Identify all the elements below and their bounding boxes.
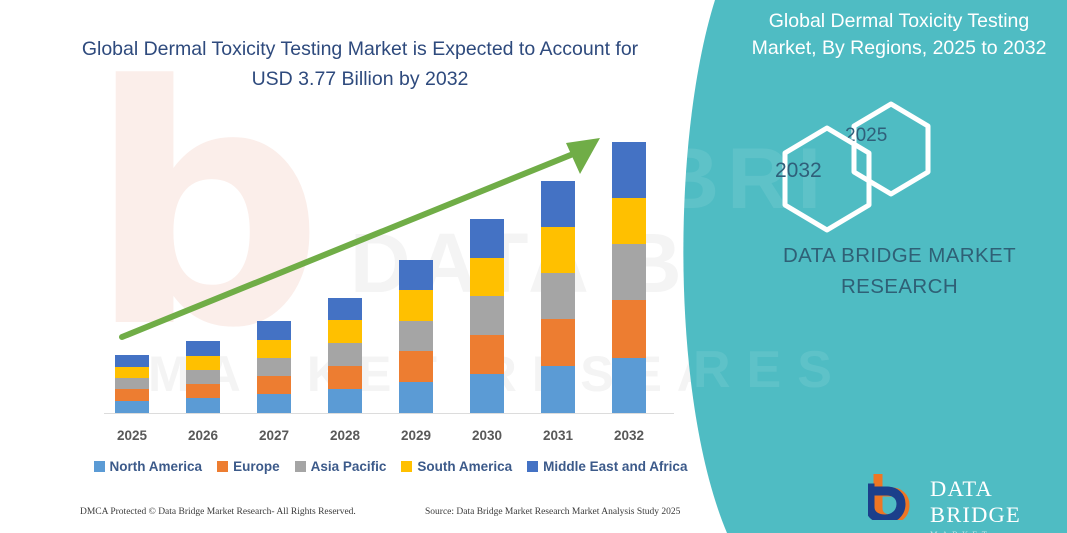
bar-segment-europe xyxy=(612,300,646,358)
legend-swatch-icon xyxy=(94,461,105,472)
x-axis-label-2029: 2029 xyxy=(386,428,446,443)
bar-segment-europe xyxy=(328,366,362,389)
bar-segment-north-america xyxy=(612,358,646,413)
legend-item-middle-east-and-africa[interactable]: Middle East and Africa xyxy=(527,459,687,474)
bar-segment-north-america xyxy=(541,366,575,413)
panel-brand-name: DATA BRIDGE MARKET RESEARCH xyxy=(737,240,1062,302)
legend-item-europe[interactable]: Europe xyxy=(217,459,280,474)
legend-swatch-icon xyxy=(295,461,306,472)
infographic-canvas: b DATA BRIDGE MARKET RESEARCH Global Der… xyxy=(0,0,1067,533)
bar-segment-south-america xyxy=(541,227,575,273)
legend-item-north-america[interactable]: North America xyxy=(94,459,203,474)
legend-label: South America xyxy=(417,459,512,474)
bar-segment-europe xyxy=(257,376,291,394)
bar-segment-europe xyxy=(399,351,433,382)
bar-segment-europe xyxy=(186,384,220,398)
stacked-bar-chart: 20252026202720282029203020312032 xyxy=(0,0,700,470)
bar-segment-north-america xyxy=(470,374,504,413)
legend-label: Europe xyxy=(233,459,280,474)
legend-swatch-icon xyxy=(527,461,538,472)
legend-swatch-icon xyxy=(401,461,412,472)
bar-2027 xyxy=(257,321,291,413)
panel-brand-line1: DATA BRIDGE MARKET xyxy=(737,240,1062,271)
bar-segment-middle-east-and-africa xyxy=(612,142,646,198)
bar-segment-north-america xyxy=(399,382,433,413)
chart-legend: North AmericaEuropeAsia PacificSouth Ame… xyxy=(98,459,683,474)
legend-item-south-america[interactable]: South America xyxy=(401,459,512,474)
hexagon-group: 2025 2032 xyxy=(767,95,1067,220)
panel-title: Global Dermal Toxicity Testing Market, B… xyxy=(739,8,1059,62)
x-axis-label-2031: 2031 xyxy=(528,428,588,443)
bar-2032 xyxy=(612,142,646,413)
bar-segment-asia-pacific xyxy=(257,358,291,376)
panel-brand-line2: RESEARCH xyxy=(737,271,1062,302)
bar-2025 xyxy=(115,355,149,413)
bar-segment-asia-pacific xyxy=(186,370,220,384)
company-logo: DATA BRIDGE MARKET RESEARCH xyxy=(868,472,1043,522)
x-axis-label-2025: 2025 xyxy=(102,428,162,443)
footer: DMCA Protected © Data Bridge Market Rese… xyxy=(80,507,680,523)
bar-segment-north-america xyxy=(186,398,220,413)
bar-segment-south-america xyxy=(186,356,220,370)
x-axis-label-2028: 2028 xyxy=(315,428,375,443)
bar-segment-asia-pacific xyxy=(612,244,646,300)
logo-name: DATA BRIDGE xyxy=(930,476,1043,528)
bar-segment-north-america xyxy=(257,394,291,413)
logo-bridge-mark xyxy=(868,474,926,520)
bar-2026 xyxy=(186,341,220,413)
bar-segment-south-america xyxy=(612,198,646,244)
bar-segment-middle-east-and-africa xyxy=(541,181,575,227)
bar-segment-asia-pacific xyxy=(541,273,575,319)
bar-segment-asia-pacific xyxy=(470,296,504,335)
bar-2031 xyxy=(541,181,575,413)
bar-segment-middle-east-and-africa xyxy=(115,355,149,367)
logo-tagline: MARKET RESEARCH xyxy=(930,528,1043,533)
bar-segment-south-america xyxy=(328,320,362,343)
bar-segment-middle-east-and-africa xyxy=(399,260,433,290)
legend-label: Middle East and Africa xyxy=(543,459,687,474)
legend-item-asia-pacific[interactable]: Asia Pacific xyxy=(295,459,387,474)
legend-label: Asia Pacific xyxy=(311,459,387,474)
footer-source: Source: Data Bridge Market Research Mark… xyxy=(425,507,680,517)
legend-swatch-icon xyxy=(217,461,228,472)
hexagon-2032-shape xyxy=(775,123,879,241)
bar-2029 xyxy=(399,260,433,413)
bar-segment-middle-east-and-africa xyxy=(186,341,220,356)
x-axis-label-2030: 2030 xyxy=(457,428,517,443)
x-axis-label-2032: 2032 xyxy=(599,428,659,443)
bar-segment-middle-east-and-africa xyxy=(328,298,362,320)
bar-segment-south-america xyxy=(399,290,433,321)
bar-segment-north-america xyxy=(328,389,362,413)
bar-segment-europe xyxy=(541,319,575,366)
bar-segment-middle-east-and-africa xyxy=(470,219,504,258)
bar-segment-south-america xyxy=(115,367,149,378)
panel-content: Global Dermal Toxicity Testing Market, B… xyxy=(667,0,1067,533)
bar-segment-europe xyxy=(115,389,149,401)
footer-copyright: DMCA Protected © Data Bridge Market Rese… xyxy=(80,507,356,517)
legend-label: North America xyxy=(110,459,203,474)
bar-2028 xyxy=(328,298,362,413)
brand-panel: BRI RES Global Dermal Toxicity Testing M… xyxy=(667,0,1067,533)
bar-segment-asia-pacific xyxy=(399,321,433,351)
bar-segment-north-america xyxy=(115,401,149,413)
x-axis-label-2026: 2026 xyxy=(173,428,233,443)
bar-segment-middle-east-and-africa xyxy=(257,321,291,340)
bar-2030 xyxy=(470,219,504,413)
x-axis-label-2027: 2027 xyxy=(244,428,304,443)
logo-text: DATA BRIDGE MARKET RESEARCH xyxy=(930,476,1043,533)
bar-segment-south-america xyxy=(470,258,504,296)
bar-segment-europe xyxy=(470,335,504,374)
bar-segment-asia-pacific xyxy=(328,343,362,366)
bar-segment-asia-pacific xyxy=(115,378,149,389)
bar-segment-south-america xyxy=(257,340,291,358)
chart-axis-line xyxy=(104,413,674,414)
